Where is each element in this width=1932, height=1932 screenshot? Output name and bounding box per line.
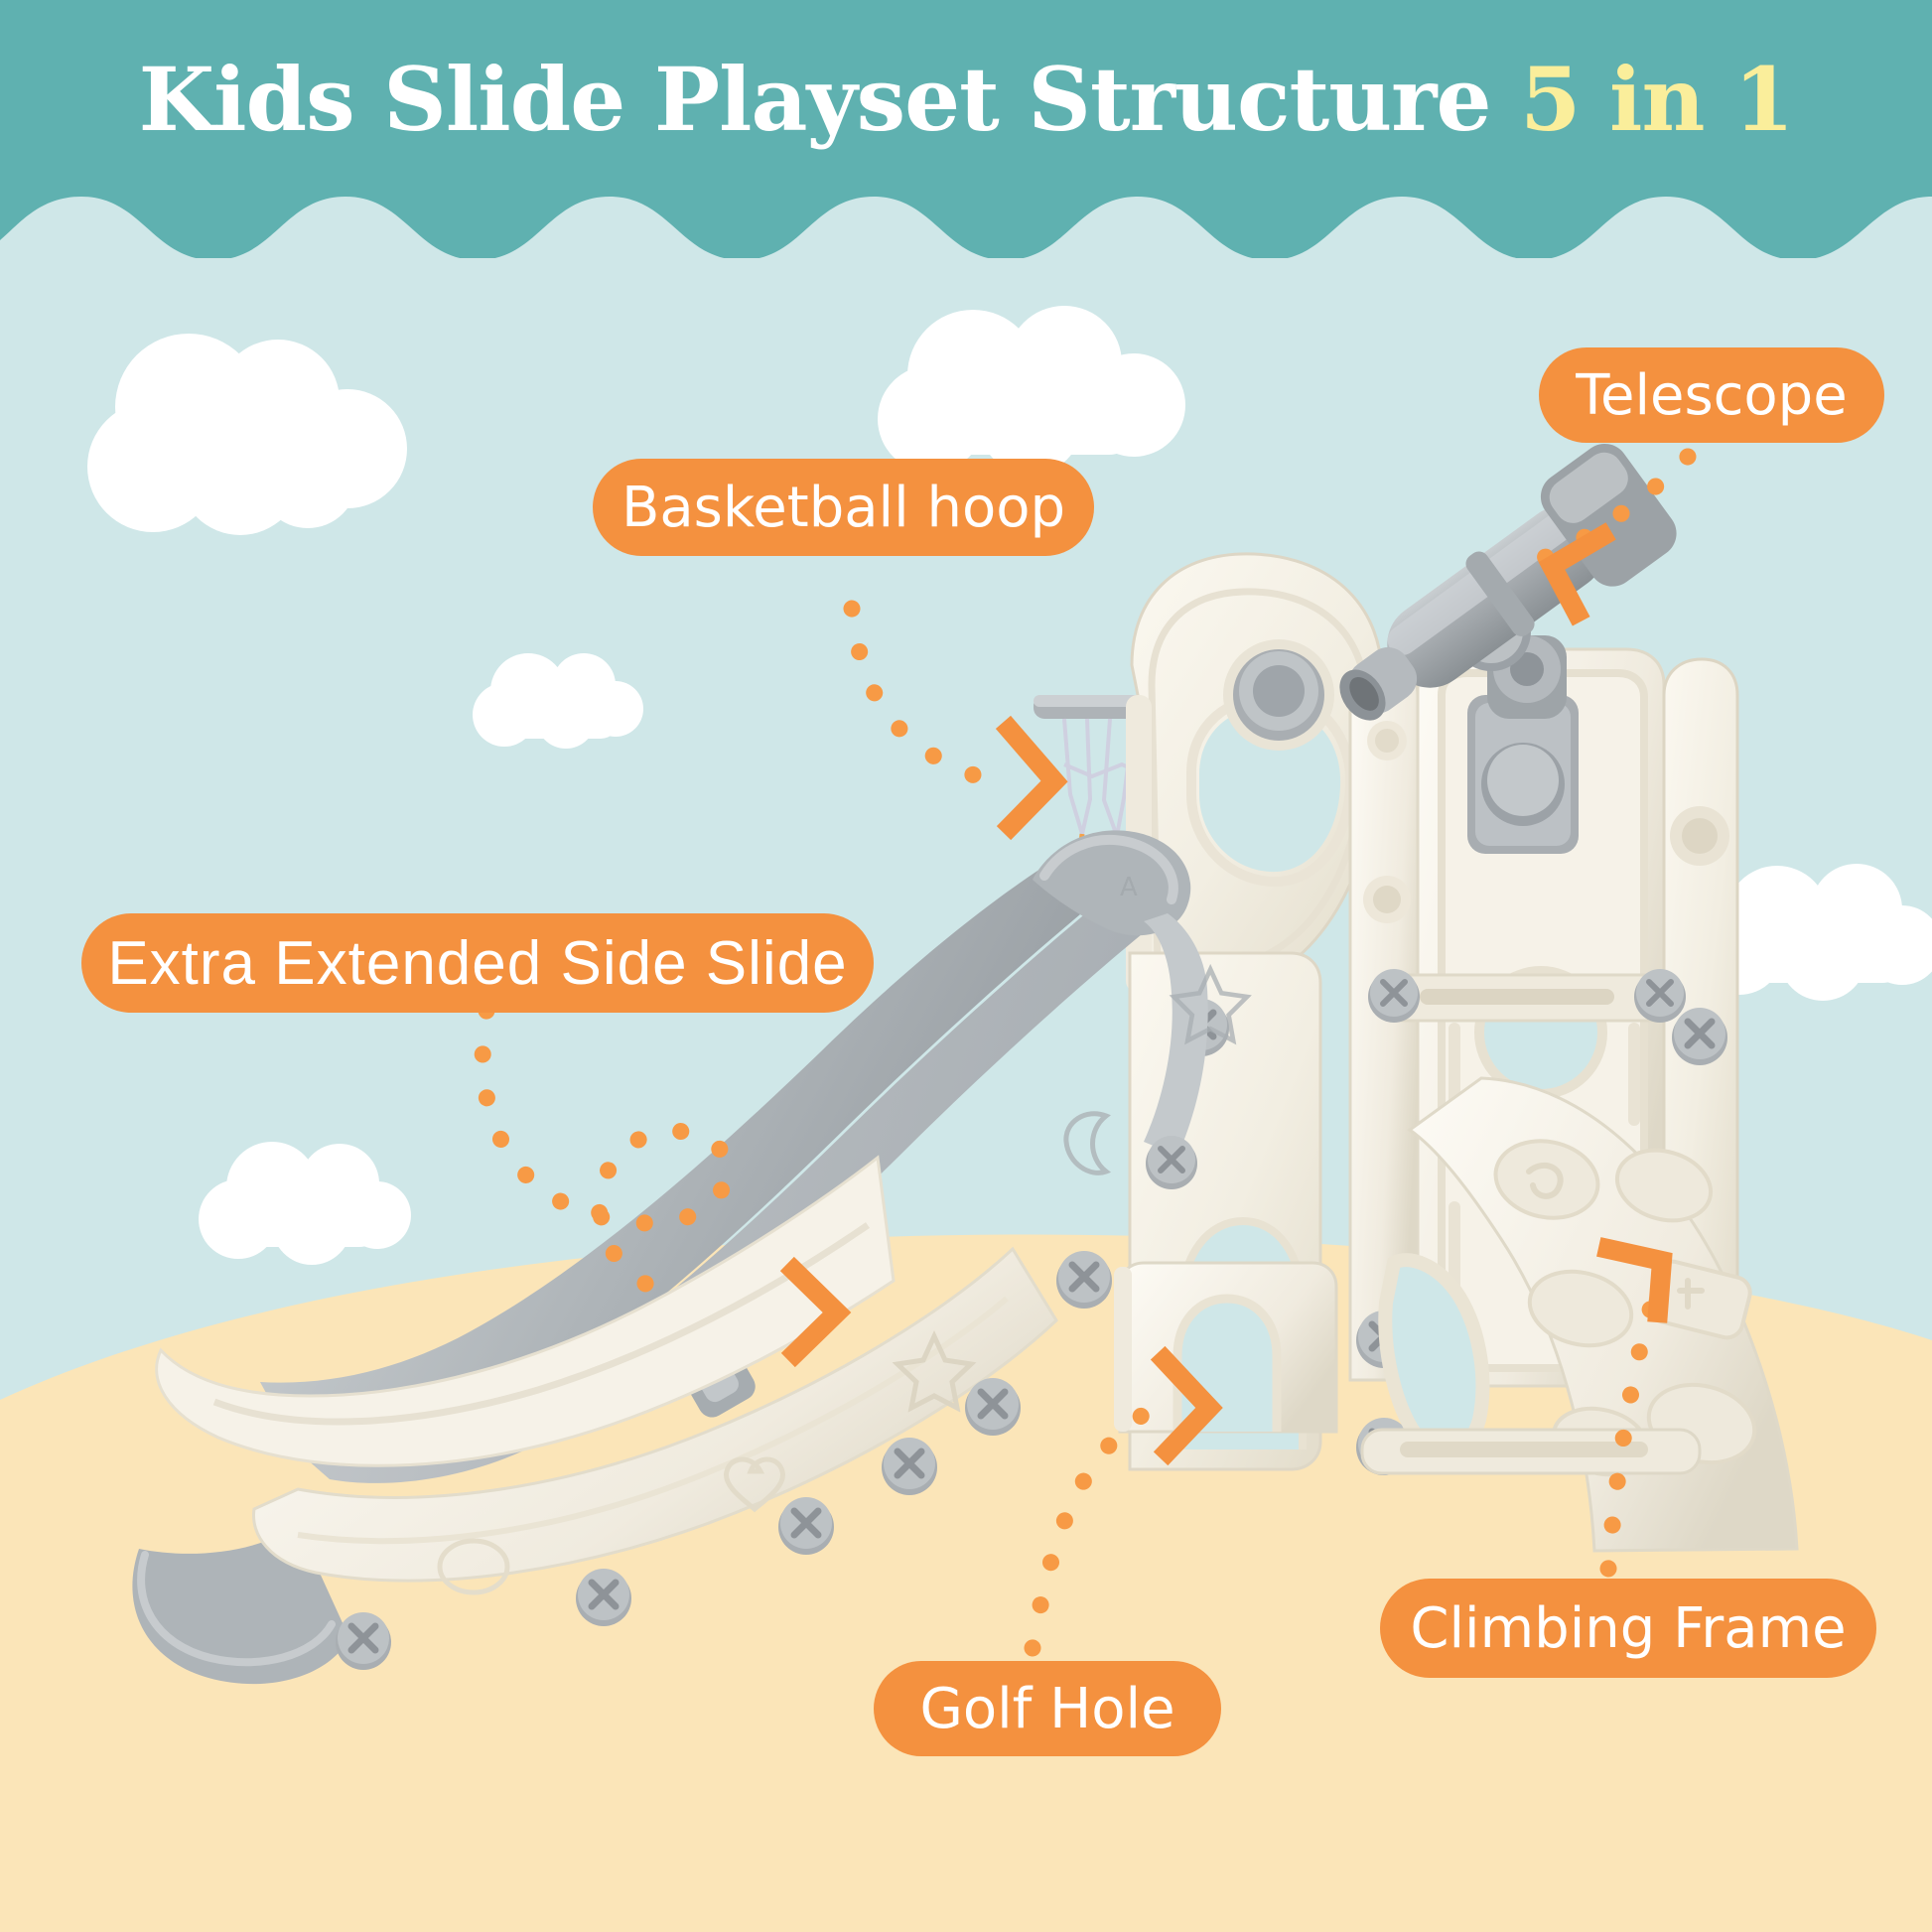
screw-cap bbox=[336, 1612, 391, 1670]
screw-cap bbox=[778, 1497, 834, 1555]
title-highlight: 5 in 1 bbox=[1520, 48, 1793, 151]
screw-cap bbox=[1056, 1251, 1112, 1309]
callout-label-climbing-frame[interactable]: Climbing Frame bbox=[1380, 1579, 1876, 1678]
screw-cap bbox=[576, 1569, 631, 1626]
header-band: Kids Slide Playset Structure 5 in 1 bbox=[0, 0, 1932, 258]
infographic-canvas: A bbox=[0, 0, 1932, 1932]
screw-cap bbox=[882, 1438, 937, 1495]
callout-label-basketball-hoop[interactable]: Basketball hoop bbox=[593, 459, 1094, 556]
page-title: Kids Slide Playset Structure 5 in 1 bbox=[0, 48, 1932, 151]
callout-label-golf-hole[interactable]: Golf Hole bbox=[874, 1661, 1221, 1756]
golf-hole-part bbox=[1114, 1263, 1336, 1432]
title-main: Kids Slide Playset Structure bbox=[139, 48, 1491, 151]
tower-crossbar bbox=[1368, 969, 1686, 1023]
svg-text:A: A bbox=[1120, 873, 1138, 902]
lower-platform bbox=[1362, 1430, 1700, 1473]
callout-label-telescope[interactable]: Telescope bbox=[1539, 347, 1884, 443]
callout-label-extra-extended-side-slide[interactable]: Extra Extended Side Slide bbox=[81, 913, 874, 1013]
